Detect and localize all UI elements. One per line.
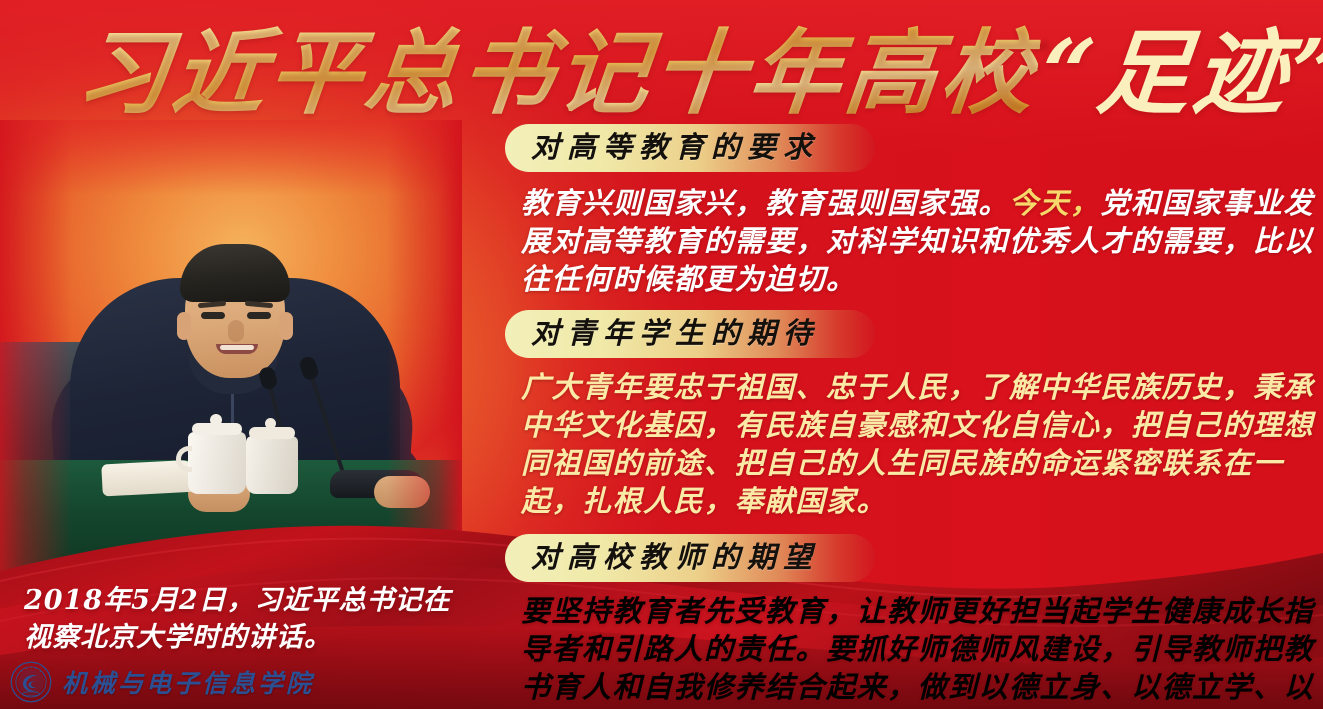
- eye-left: [201, 312, 225, 319]
- college-name: 机械与电子信息学院: [62, 664, 314, 700]
- ear-left: [177, 312, 191, 340]
- title-gold-text: 习近平总书记十年高校: [71, 0, 1045, 132]
- nose: [228, 320, 244, 342]
- poster-root: 习近平总书记十年高校“足迹” 对高等教育的要求 教育兴则国家兴，教育强则国家强。…: [0, 0, 1323, 709]
- section-heading-3: 对高校教师的期望: [505, 534, 875, 582]
- section-body-2: 广大青年要忠于祖国、忠于人民，了解中华民族历史，秉承中华文化基因，有民族自豪感和…: [521, 368, 1317, 520]
- section-body-3: 要坚持教育者先受教育，让教师更好担当起学生健康成长指导者和引路人的责任。要抓好师…: [521, 592, 1317, 709]
- title-cream-text: “足迹”: [1035, 0, 1323, 132]
- section-heading-1: 对高等教育的要求: [505, 124, 875, 172]
- college-emblem-icon: [10, 661, 52, 703]
- ear-right: [279, 312, 293, 340]
- eye-right: [247, 312, 271, 319]
- teacup-knob: [210, 414, 222, 426]
- poster-title: 习近平总书记十年高校“足迹”: [78, 2, 1308, 128]
- teacup-knob: [265, 418, 276, 429]
- teeth: [220, 345, 254, 350]
- section-body-1: 教育兴则国家兴，教育强则国家强。今天，党和国家事业发展对高等教育的需要，对科学知…: [521, 184, 1317, 298]
- body-1-lead: 教育兴则国家兴，教育强则国家强。: [521, 186, 1009, 220]
- section-higher-education: 对高等教育的要求 教育兴则国家兴，教育强则国家强。今天，党和国家事业发展对高等教…: [505, 124, 1317, 298]
- body-1-highlight: 今天，: [1009, 186, 1101, 220]
- section-heading-2: 对青年学生的期待: [505, 310, 875, 358]
- section-university-teachers: 对高校教师的期望 要坚持教育者先受教育，让教师更好担当起学生健康成长指导者和引路…: [505, 534, 1317, 709]
- section-youth-students: 对青年学生的期待 广大青年要忠于祖国、忠于人民，了解中华民族历史，秉承中华文化基…: [505, 310, 1317, 520]
- teacup-lid: [249, 427, 295, 439]
- content-column: 对高等教育的要求 教育兴则国家兴，教育强则国家强。今天，党和国家事业发展对高等教…: [505, 124, 1317, 709]
- footer-branding: 机械与电子信息学院: [10, 661, 314, 703]
- photo-caption: 2018年5月2日，习近平总书记在视察北京大学时的讲话。: [24, 582, 454, 656]
